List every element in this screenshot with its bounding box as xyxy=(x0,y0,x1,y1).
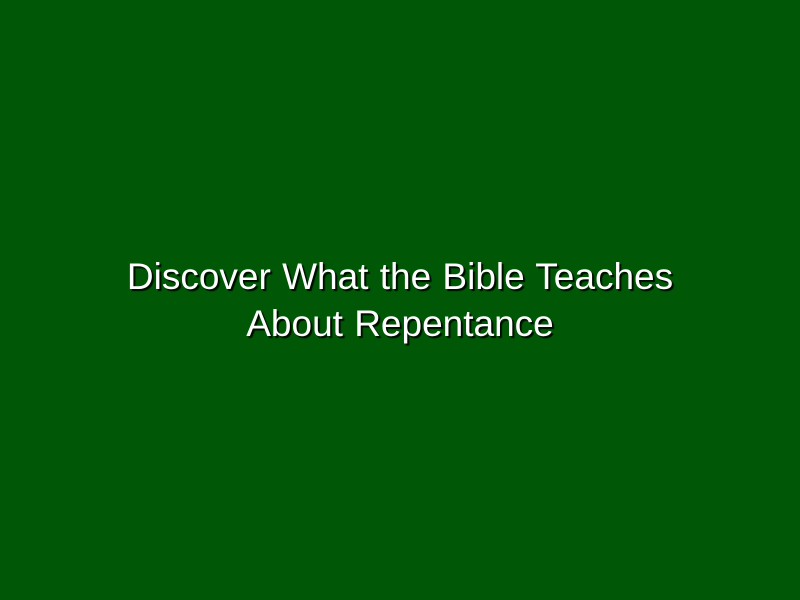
page-title: Discover What the Bible Teaches About Re… xyxy=(90,253,710,347)
headline-block: Discover What the Bible Teaches About Re… xyxy=(90,253,710,347)
title-card: Discover What the Bible Teaches About Re… xyxy=(0,0,800,600)
